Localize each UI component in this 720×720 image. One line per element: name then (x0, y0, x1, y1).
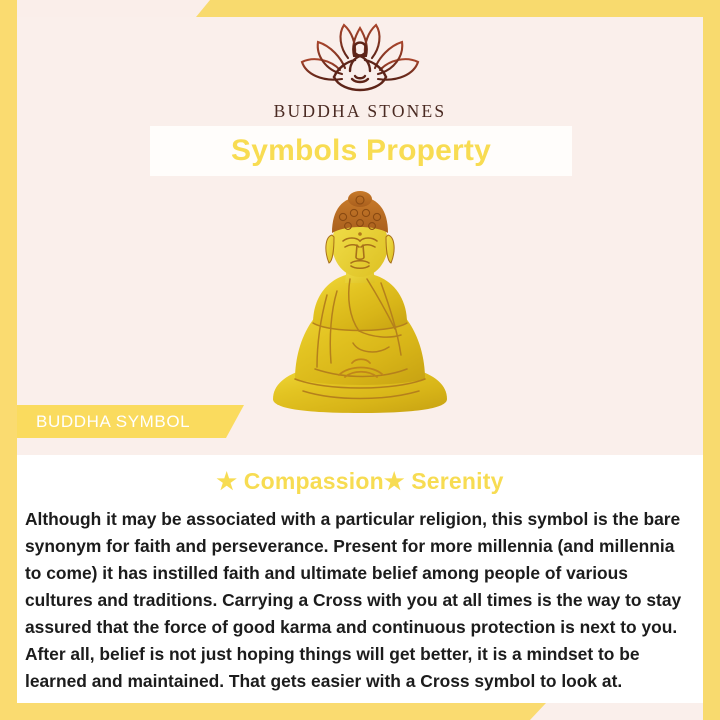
frame-left-accent-bar (0, 0, 17, 720)
brand-logo: BUDDHA STONES (0, 22, 720, 122)
title-banner: Symbols Property (150, 126, 572, 176)
frame-bottom-accent-bar (0, 703, 546, 720)
hero-image (0, 183, 720, 415)
frame-right-accent-bar (703, 0, 720, 720)
infographic-page: BUDDHA STONES Symbols Property (0, 0, 720, 720)
category-tag-label: BUDDHA SYMBOL (17, 413, 190, 430)
seated-buddha-statue-icon (255, 187, 465, 415)
page-title: Symbols Property (231, 136, 491, 166)
content-panel: ★ Compassion★ Serenity Although it may b… (17, 455, 703, 703)
content-paragraph: Although it may be associated with a par… (17, 494, 703, 695)
category-tag: BUDDHA SYMBOL (17, 405, 244, 438)
brand-name: BUDDHA STONES (274, 101, 447, 122)
frame-top-accent-bar (196, 0, 720, 17)
content-subheading: ★ Compassion★ Serenity (17, 455, 703, 494)
lotus-meditation-icon (298, 22, 422, 94)
